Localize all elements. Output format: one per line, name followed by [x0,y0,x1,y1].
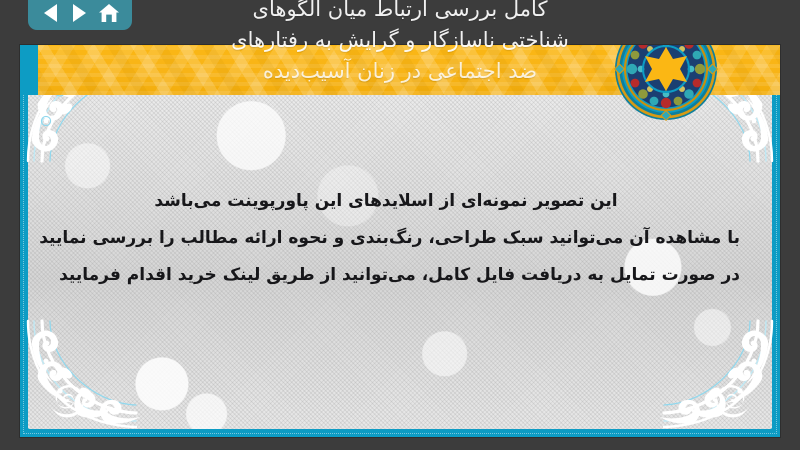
slide-body-text: این تصویر نمونه‌ای از اسلایدهای این پاور… [60,183,740,294]
home-icon [98,3,120,23]
islamic-star-medallion-icon [614,45,718,121]
body-line-3: در صورت تمایل به دریافت فایل کامل، می‌تو… [60,257,740,294]
home-button[interactable] [98,2,120,24]
body-line-1: این تصویر نمونه‌ای از اسلایدهای این پاور… [60,183,712,220]
title-banner-tab [20,45,38,95]
triangle-left-icon [44,4,57,22]
triangle-right-icon [73,4,86,22]
prev-slide-button[interactable] [40,2,62,24]
slide-viewer: این تصویر نمونه‌ای از اسلایدهای این پاور… [0,0,800,450]
slide-canvas: این تصویر نمونه‌ای از اسلایدهای این پاور… [20,45,780,437]
navigation-toolbar [28,0,132,30]
body-line-2: با مشاهده آن می‌توانید سبک طراحی، رنگ‌بن… [60,220,740,257]
next-slide-button[interactable] [69,2,91,24]
